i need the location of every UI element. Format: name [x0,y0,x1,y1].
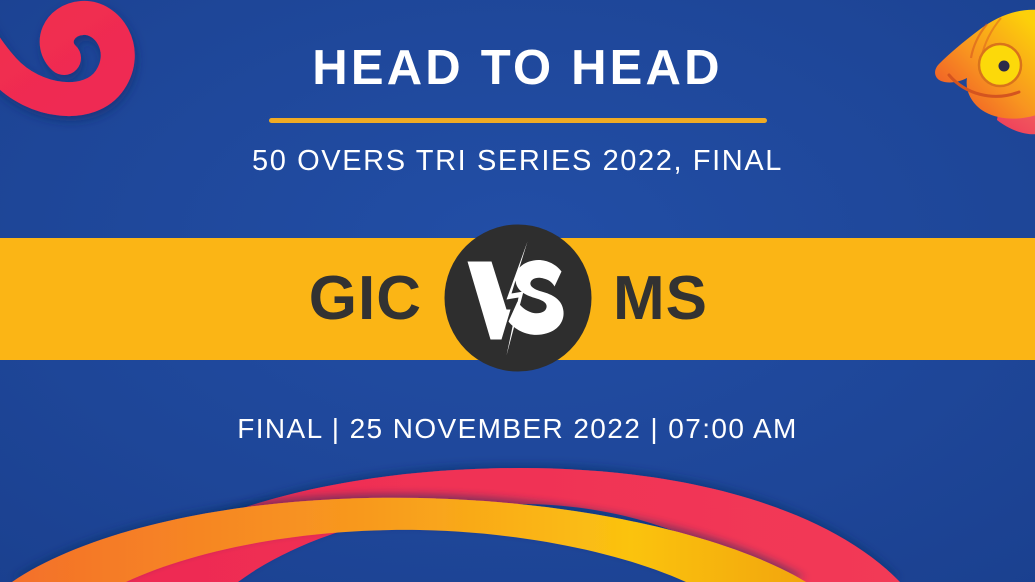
header-block: HEAD TO HEAD 50 OVERS TRI SERIES 2022, F… [0,44,1035,176]
page-title: HEAD TO HEAD [0,44,1035,93]
home-team-code: GIC [192,268,444,330]
head-to-head-poster: HEAD TO HEAD 50 OVERS TRI SERIES 2022, F… [0,0,1035,582]
match-meta: FINAL | 25 NOVEMBER 2022 | 07:00 AM [0,412,1035,446]
series-subtitle: 50 OVERS TRI SERIES 2022, FINAL [0,147,1035,176]
versus-badge [444,225,591,372]
vs-lightning-icon [466,239,570,357]
away-team-code: MS [591,268,843,330]
title-divider [269,118,767,123]
